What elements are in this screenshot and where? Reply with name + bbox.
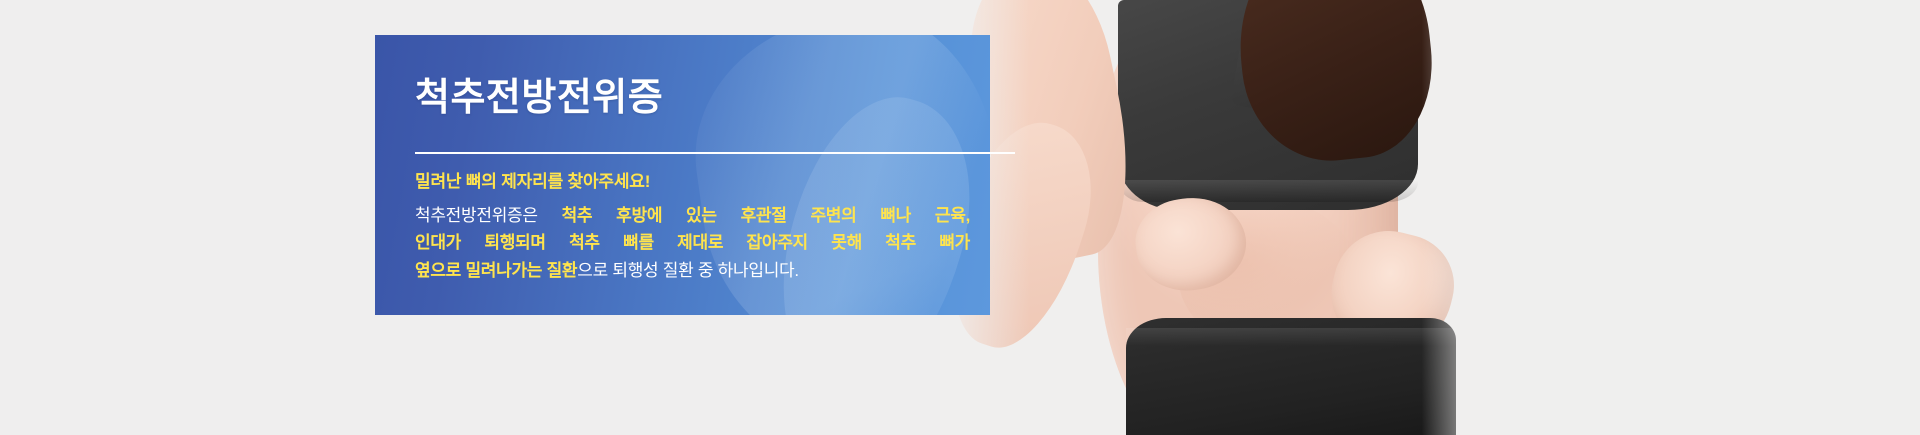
pants-shape [1126,318,1456,435]
body-highlight: 질환 [547,261,578,280]
title-divider [415,152,1015,154]
body-highlight: 인대가 퇴행되며 척추 뼈를 제대로 잡아주지 못해 척추 뼈가 [415,233,970,252]
body-line: 옆으로 밀려나가는 질환으로 퇴행성 질환 중 하나입니다. [415,257,970,285]
panel-body-text: 척추전방전위증은 척추 후방에 있는 후관절 주변의 뼈나 근육,인대가 퇴행되… [415,202,970,285]
body-plain: 으로 퇴행성 질환 중 하나입니다. [577,261,799,280]
body-highlight: 척추 후방에 있는 후관절 주변의 뼈나 근육, [562,206,970,225]
pants-waistband [1126,328,1456,346]
body-highlight: 옆으로 밀려나가는 [415,261,547,280]
spine-condition-banner: 척추전방전위증 밀려난 뼈의 제자리를 찾아주세요! 척추전방전위증은 척추 후… [0,0,1920,435]
panel-content: 척추전방전위증 밀려난 뼈의 제자리를 찾아주세요! 척추전방전위증은 척추 후… [375,35,990,284]
page-title: 척추전방전위증 [415,79,990,119]
body-plain: 척추전방전위증은 [415,206,562,225]
body-line: 인대가 퇴행되며 척추 뼈를 제대로 잡아주지 못해 척추 뼈가 [415,229,970,257]
info-panel: 척추전방전위증 밀려난 뼈의 제자리를 찾아주세요! 척추전방전위증은 척추 후… [375,35,990,315]
photo-backdrop [940,0,1500,435]
panel-subtitle: 밀려난 뼈의 제자리를 찾아주세요! [415,167,990,192]
model-photo [940,0,1500,435]
body-line: 척추전방전위증은 척추 후방에 있는 후관절 주변의 뼈나 근육, [415,202,970,230]
